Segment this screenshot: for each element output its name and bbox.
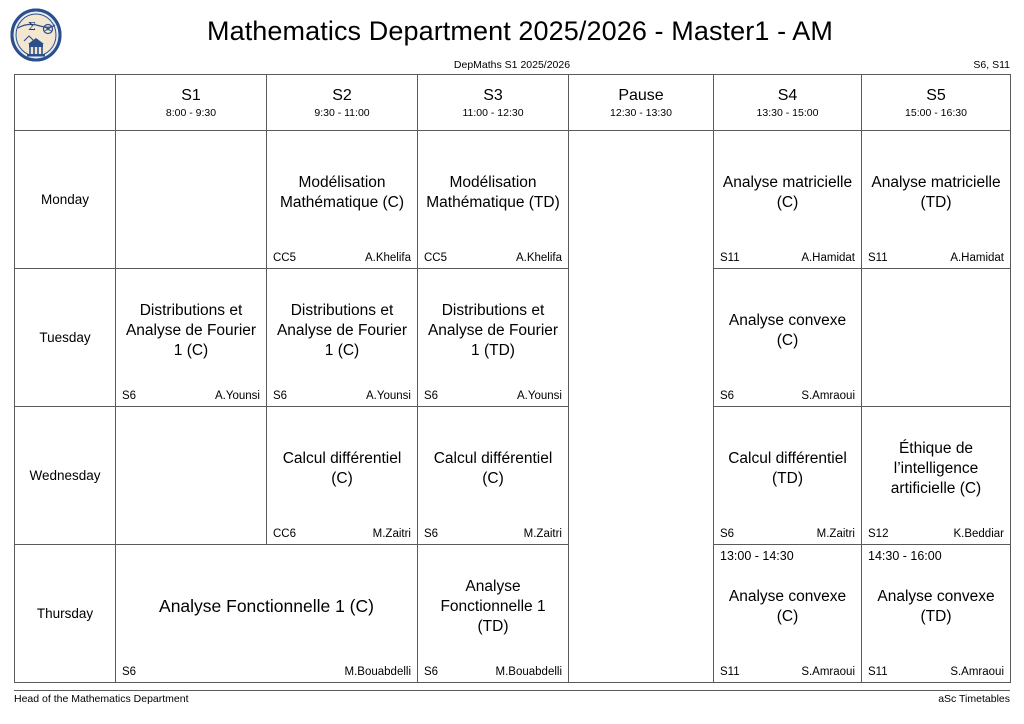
lesson-time: 14:30 - 16:00: [868, 549, 942, 563]
lesson-room: CC6: [273, 527, 296, 541]
cell-wednesday-s2[interactable]: Calcul différentiel (C) CC6 M.Zaitri: [267, 407, 418, 545]
page-footer: Head of the Mathematics Department aSc T…: [14, 690, 1010, 706]
lesson-teacher: A.Khelifa: [365, 251, 411, 265]
cell-thursday-s1-s2[interactable]: Analyse Fonctionnelle 1 (C) S6 M.Bouabde…: [116, 545, 418, 683]
timetable-page: Σ Mathematics Department 2025/2026 - Mas…: [0, 0, 1024, 724]
cell-tuesday-s2[interactable]: Distributions et Analyse de Fourier 1 (C…: [267, 269, 418, 407]
svg-text:Σ: Σ: [28, 20, 36, 33]
lesson-room: S12: [868, 527, 888, 541]
lesson-subject: Modélisation Mathématique (C): [272, 173, 412, 213]
lesson-room: S6: [424, 665, 438, 679]
period-header-s1: S1 8:00 - 9:30: [116, 75, 267, 131]
cell-wednesday-s5[interactable]: Éthique de l’intelligence artificielle (…: [862, 407, 1011, 545]
lesson-room: S6: [720, 389, 734, 403]
day-row-wednesday: Wednesday Calcul différentiel (C) CC6 M.…: [15, 407, 1011, 545]
lesson-subject: Analyse Fonctionnelle 1 (TD): [423, 577, 563, 637]
period-header-s5: S5 15:00 - 16:30: [862, 75, 1011, 131]
cell-monday-s1-empty[interactable]: [116, 131, 267, 269]
lesson-room: S6: [122, 665, 136, 679]
lesson-subject: Calcul différentiel (TD): [719, 449, 856, 489]
lesson-subject: Analyse convexe (C): [719, 311, 856, 351]
lesson-teacher: S.Amraoui: [801, 389, 855, 403]
lesson-subject: Modélisation Mathématique (TD): [423, 173, 563, 213]
period-name: S5: [862, 86, 1010, 105]
cell-wednesday-s1-empty[interactable]: [116, 407, 267, 545]
lesson-room: S11: [720, 665, 740, 679]
period-header-row: S1 8:00 - 9:30 S2 9:30 - 11:00 S3 11:00 …: [15, 75, 1011, 131]
lesson-subject: Calcul différentiel (C): [272, 449, 412, 489]
footer-credit: aSc Timetables: [938, 693, 1010, 705]
period-time: 8:00 - 9:30: [116, 106, 266, 120]
lesson-subject: Analyse matricielle (TD): [867, 173, 1005, 213]
cell-monday-s4[interactable]: Analyse matricielle (C) S11 A.Hamidat: [714, 131, 862, 269]
lesson-room: S11: [868, 251, 888, 265]
day-row-tuesday: Tuesday Distributions et Analyse de Four…: [15, 269, 1011, 407]
lesson-teacher: A.Younsi: [366, 389, 411, 403]
cell-monday-s5[interactable]: Analyse matricielle (TD) S11 A.Hamidat: [862, 131, 1011, 269]
lesson-teacher: A.Younsi: [215, 389, 260, 403]
lesson-subject: Éthique de l’intelligence artificielle (…: [867, 439, 1005, 499]
cell-wednesday-s3[interactable]: Calcul différentiel (C) S6 M.Zaitri: [418, 407, 569, 545]
period-time: 11:00 - 12:30: [418, 106, 568, 120]
lesson-teacher: A.Hamidat: [801, 251, 855, 265]
lesson-teacher: M.Bouabdelli: [496, 665, 562, 679]
lesson-subject: Distributions et Analyse de Fourier 1 (C…: [272, 301, 412, 361]
day-row-monday: Monday Modélisation Mathématique (C) CC5…: [15, 131, 1011, 269]
lesson-teacher: M.Bouabdelli: [345, 665, 411, 679]
cell-monday-s3[interactable]: Modélisation Mathématique (TD) CC5 A.Khe…: [418, 131, 569, 269]
lesson-room: S6: [424, 527, 438, 541]
lesson-room: CC5: [273, 251, 296, 265]
period-name: S1: [116, 86, 266, 105]
day-label-wednesday: Wednesday: [15, 407, 116, 545]
page-title: Mathematics Department 2025/2026 - Maste…: [80, 16, 960, 47]
cell-pause-column[interactable]: [569, 131, 714, 683]
lesson-room: S6: [424, 389, 438, 403]
rooms-note: S6, S11: [973, 59, 1010, 71]
lesson-teacher: M.Zaitri: [524, 527, 562, 541]
lesson-subject: Analyse matricielle (C): [719, 173, 856, 213]
corner-cell: [15, 75, 116, 131]
period-header-s4: S4 13:30 - 15:00: [714, 75, 862, 131]
cell-thursday-s5[interactable]: 14:30 - 16:00 Analyse convexe (TD) S11 S…: [862, 545, 1011, 683]
cell-wednesday-s4[interactable]: Calcul différentiel (TD) S6 M.Zaitri: [714, 407, 862, 545]
lesson-room: S6: [720, 527, 734, 541]
page-header: Σ Mathematics Department 2025/2026 - Mas…: [0, 0, 1024, 62]
period-time: 12:30 - 13:30: [569, 106, 713, 120]
lesson-teacher: S.Amraoui: [950, 665, 1004, 679]
lesson-room: S11: [868, 665, 888, 679]
cell-tuesday-s1[interactable]: Distributions et Analyse de Fourier 1 (C…: [116, 269, 267, 407]
lesson-subject: Analyse Fonctionnelle 1 (C): [159, 595, 374, 618]
timetable-grid: S1 8:00 - 9:30 S2 9:30 - 11:00 S3 11:00 …: [14, 74, 1011, 683]
lesson-teacher: A.Hamidat: [950, 251, 1004, 265]
lesson-teacher: M.Zaitri: [817, 527, 855, 541]
subtitle-text: DepMaths S1 2025/2026: [14, 59, 1010, 71]
cell-tuesday-s5-empty[interactable]: [862, 269, 1011, 407]
lesson-room: S11: [720, 251, 740, 265]
footer-signature: Head of the Mathematics Department: [14, 693, 189, 705]
lesson-room: S6: [122, 389, 136, 403]
period-time: 13:30 - 15:00: [714, 106, 861, 120]
period-header-s3: S3 11:00 - 12:30: [418, 75, 569, 131]
cell-thursday-s4[interactable]: 13:00 - 14:30 Analyse convexe (C) S11 S.…: [714, 545, 862, 683]
cell-monday-s2[interactable]: Modélisation Mathématique (C) CC5 A.Khel…: [267, 131, 418, 269]
university-crest-logo: Σ: [10, 8, 62, 62]
lesson-teacher: S.Amraoui: [801, 665, 855, 679]
lesson-time: 13:00 - 14:30: [720, 549, 794, 563]
lesson-teacher: M.Zaitri: [373, 527, 411, 541]
lesson-subject: Calcul différentiel (C): [423, 449, 563, 489]
lesson-subject: Analyse convexe (TD): [867, 587, 1005, 627]
day-label-tuesday: Tuesday: [15, 269, 116, 407]
period-name: S2: [267, 86, 417, 105]
lesson-teacher: A.Khelifa: [516, 251, 562, 265]
lesson-teacher: K.Beddiar: [953, 527, 1004, 541]
lesson-subject: Analyse convexe (C): [719, 587, 856, 627]
lesson-subject: Distributions et Analyse de Fourier 1 (T…: [423, 301, 563, 361]
period-time: 9:30 - 11:00: [267, 106, 417, 120]
subtitle-row: DepMaths S1 2025/2026 S6, S11: [14, 59, 1010, 73]
period-header-s2: S2 9:30 - 11:00: [267, 75, 418, 131]
lesson-teacher: A.Younsi: [517, 389, 562, 403]
period-name: Pause: [569, 86, 713, 105]
lesson-room: CC5: [424, 251, 447, 265]
period-name: S3: [418, 86, 568, 105]
cell-tuesday-s3[interactable]: Distributions et Analyse de Fourier 1 (T…: [418, 269, 569, 407]
day-row-thursday: Thursday Analyse Fonctionnelle 1 (C) S6 …: [15, 545, 1011, 683]
lesson-subject: Distributions et Analyse de Fourier 1 (C…: [121, 301, 261, 361]
period-time: 15:00 - 16:30: [862, 106, 1010, 120]
period-header-pause: Pause 12:30 - 13:30: [569, 75, 714, 131]
day-label-monday: Monday: [15, 131, 116, 269]
period-name: S4: [714, 86, 861, 105]
cell-thursday-s3[interactable]: Analyse Fonctionnelle 1 (TD) S6 M.Bouabd…: [418, 545, 569, 683]
lesson-room: S6: [273, 389, 287, 403]
cell-tuesday-s4[interactable]: Analyse convexe (C) S6 S.Amraoui: [714, 269, 862, 407]
day-label-thursday: Thursday: [15, 545, 116, 683]
